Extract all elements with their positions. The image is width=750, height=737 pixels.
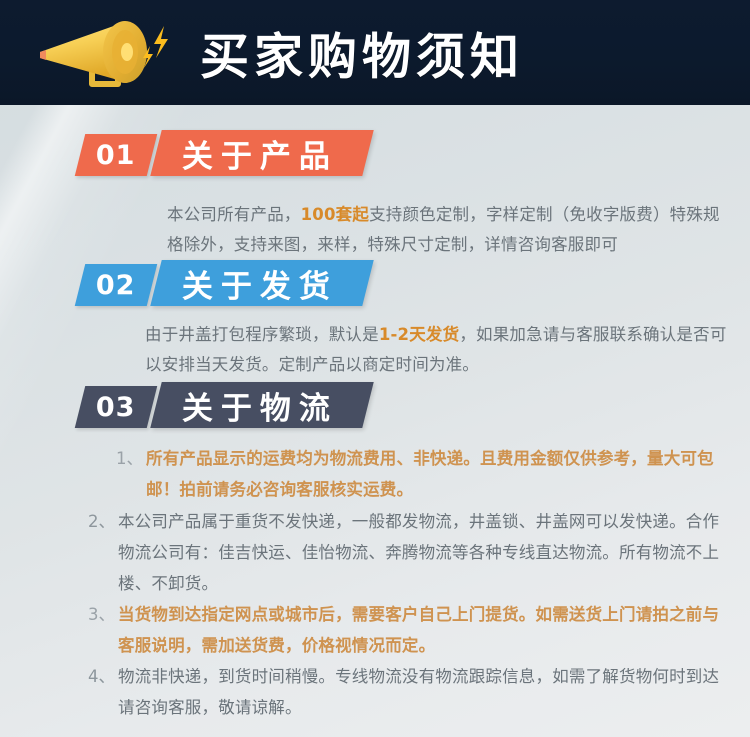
section-paragraph-01: 本公司所有产品，100套起支持颜色定制，字样定制（免收字版费）特殊规格除外，支持… bbox=[167, 200, 729, 260]
section-number-badge-02: 02 bbox=[75, 264, 157, 306]
paragraph-text: 本公司所有产品， bbox=[167, 205, 301, 224]
page-header: 买家购物须知 bbox=[0, 0, 750, 105]
list-item-marker: 4、 bbox=[88, 661, 118, 723]
section-number-badge-01: 01 bbox=[75, 134, 157, 176]
highlight-text: 1-2天发货 bbox=[379, 325, 460, 344]
list-item-text: 所有产品显示的运费均为物流费用、非快递。且费用金额仅供参考，量大可包邮！拍前请务… bbox=[146, 443, 731, 505]
lightning-bolt-icon bbox=[143, 26, 168, 68]
list-item: 1、 所有产品显示的运费均为物流费用、非快递。且费用金额仅供参考，量大可包邮！拍… bbox=[116, 443, 731, 505]
list-item: 3、 当货物到达指定网点或城市后，需要客户自己上门提货。如需送货上门请拍之前与客… bbox=[88, 599, 733, 661]
list-item-text: 物流非快递，到货时间稍慢。专线物流没有物流跟踪信息，如需了解货物何时到达请咨询客… bbox=[118, 661, 733, 723]
section-paragraph-02: 由于井盖打包程序繁琐，默认是1-2天发货，如果加急请与客服联系确认是否可以安排当… bbox=[145, 320, 729, 380]
paragraph-text: 由于井盖打包程序繁琐，默认是 bbox=[145, 325, 379, 344]
list-item-marker: 2、 bbox=[88, 506, 118, 599]
list-item-text: 本公司产品属于重货不发快递，一般都发物流，井盖锁、井盖网可以发快递。合作物流公司… bbox=[118, 506, 733, 599]
section-title-banner-02: 关于发货 bbox=[150, 260, 373, 306]
list-item-text: 当货物到达指定网点或城市后，需要客户自己上门提货。如需送货上门请拍之前与客服说明… bbox=[118, 599, 733, 661]
shopping-notice-page: 买家购物须知 01 关于产品 本公司所有产品，100套起支持颜色定制，字样定制（… bbox=[0, 0, 750, 737]
list-item-marker: 1、 bbox=[116, 443, 146, 505]
list-item: 4、 物流非快递，到货时间稍慢。专线物流没有物流跟踪信息，如需了解货物何时到达请… bbox=[88, 661, 733, 723]
highlight-text: 100套起 bbox=[301, 205, 369, 224]
megaphone-icon bbox=[30, 14, 180, 94]
section-title-banner-03: 关于物流 bbox=[150, 382, 373, 428]
list-item-marker: 3、 bbox=[88, 599, 118, 661]
section-number-badge-03: 03 bbox=[75, 386, 157, 428]
list-item: 2、 本公司产品属于重货不发快递，一般都发物流，井盖锁、井盖网可以发快递。合作物… bbox=[88, 506, 733, 599]
section-title-banner-01: 关于产品 bbox=[150, 130, 373, 176]
page-title: 买家购物须知 bbox=[200, 17, 524, 88]
